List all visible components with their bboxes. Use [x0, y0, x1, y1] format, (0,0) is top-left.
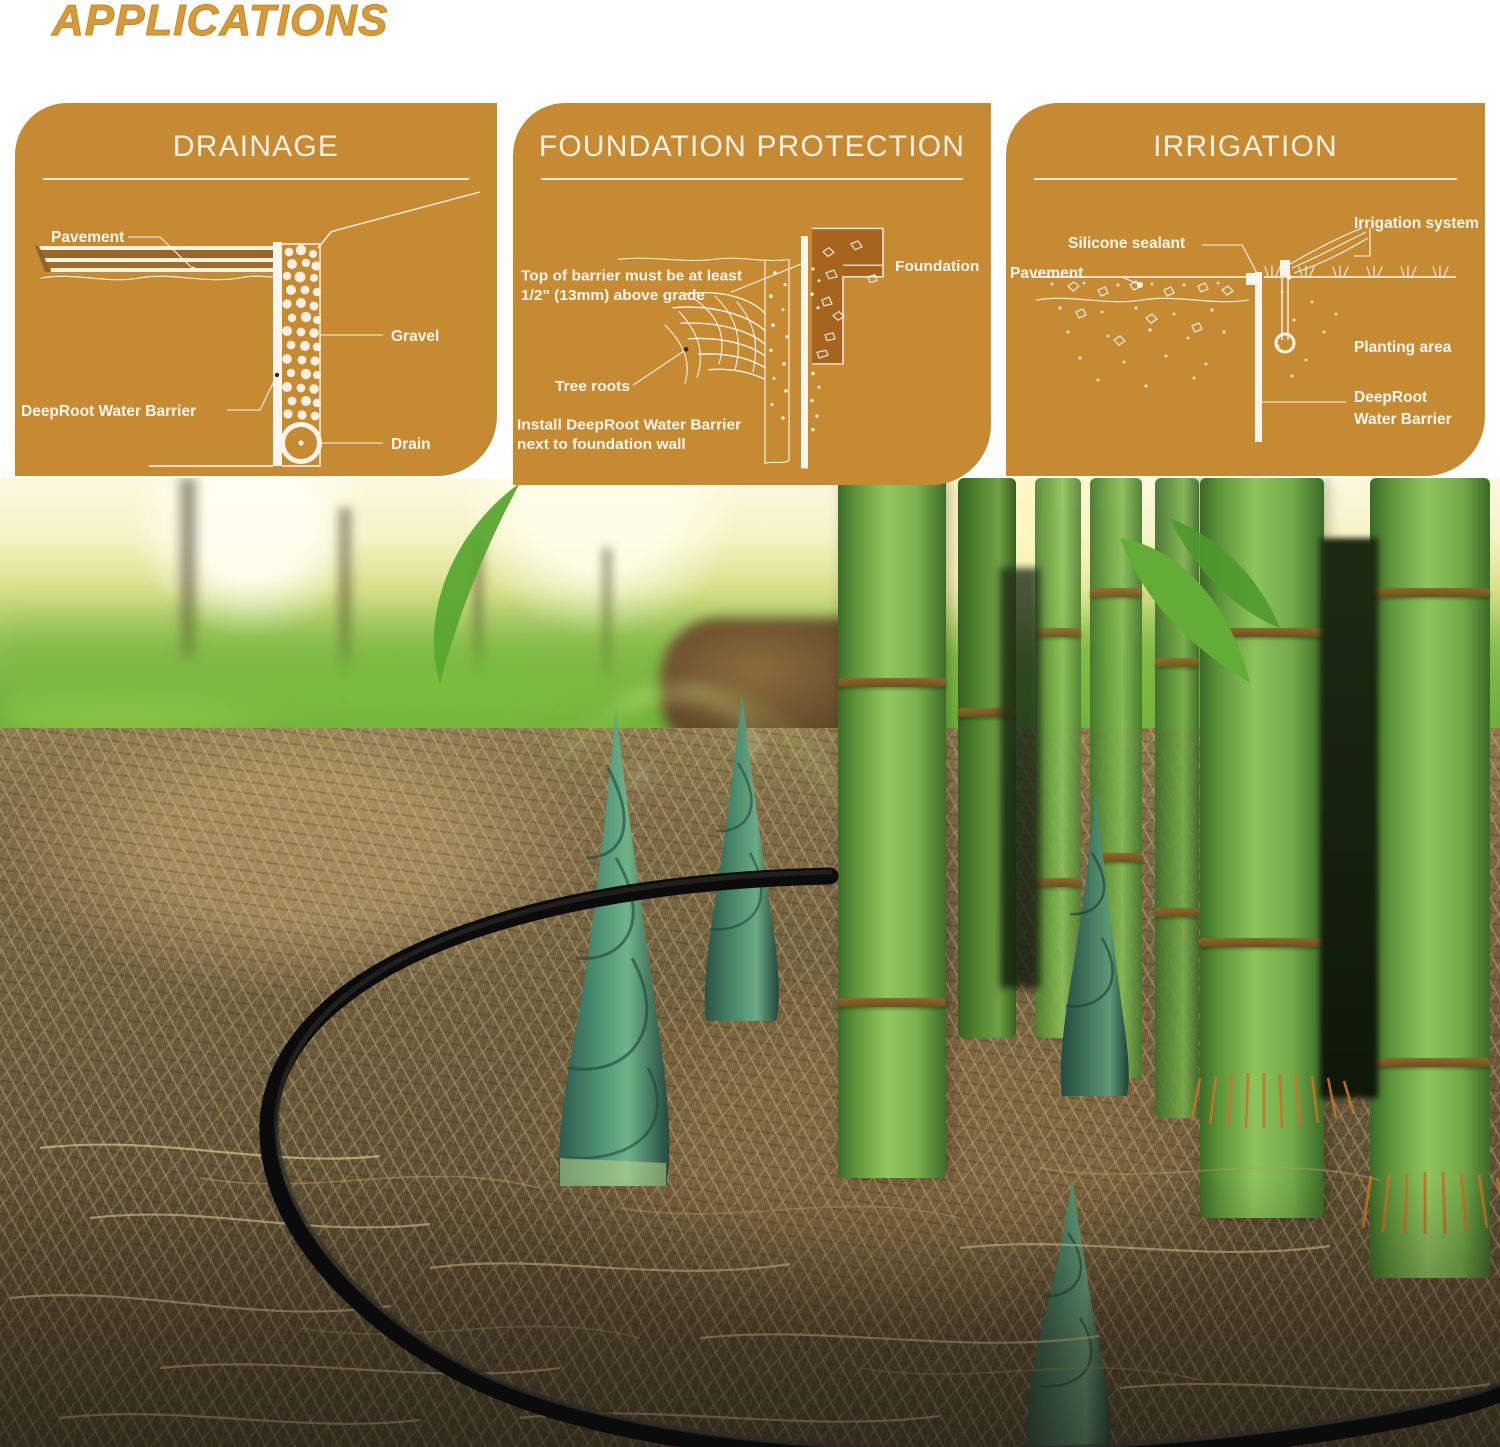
- label-pavement: Pavement: [51, 229, 124, 246]
- panel-drainage-figure: Pavement DeepRoot Water Barrier Gravel D…: [15, 180, 497, 476]
- applications-panel-row: DRAINAGE: [0, 103, 1500, 495]
- label-pavement: Pavement: [1010, 265, 1083, 282]
- label-tree-roots: Tree roots: [555, 378, 630, 395]
- label-gravel: Gravel: [391, 328, 439, 345]
- label-deeproot-water-barrier: DeepRoot Water Barrier: [21, 403, 196, 420]
- drainage-diagram: Pavement DeepRoot Water Barrier Gravel D…: [15, 180, 497, 476]
- panel-foundation-figure: Top of barrier must be at least 1/2" (13…: [513, 180, 991, 480]
- foundation-diagram: Top of barrier must be at least 1/2" (13…: [513, 180, 991, 480]
- label-top-note-line1: Top of barrier must be at least: [521, 268, 742, 285]
- label-foundation: Foundation: [895, 258, 979, 275]
- panel-irrigation: IRRIGATION: [1006, 103, 1485, 476]
- root-barrier-ring: [0, 478, 1500, 1447]
- panel-foundation-header: FOUNDATION PROTECTION: [513, 103, 991, 164]
- label-barrier-line1: DeepRoot: [1354, 389, 1427, 406]
- label-install-line1: Install DeepRoot Water Barrier: [517, 417, 741, 434]
- label-silicone-sealant: Silicone sealant: [1068, 235, 1185, 252]
- label-top-note-line2: 1/2" (13mm) above grade: [521, 287, 705, 304]
- bamboo-photograph: [0, 478, 1500, 1447]
- panel-drainage: DRAINAGE: [15, 103, 497, 476]
- label-planting-area: Planting area: [1354, 339, 1452, 356]
- panel-irrigation-header: IRRIGATION: [1006, 103, 1485, 164]
- irrigation-diagram: Silicone sealant Pavement Irrigation sys…: [1006, 180, 1485, 476]
- panel-irrigation-figure: Silicone sealant Pavement Irrigation sys…: [1006, 180, 1485, 476]
- panel-drainage-header: DRAINAGE: [15, 103, 497, 164]
- page-title: APPLICATIONS: [52, 0, 388, 46]
- label-barrier-line2: Water Barrier: [1354, 411, 1452, 428]
- label-drain: Drain: [391, 436, 431, 453]
- panel-foundation-protection: FOUNDATION PROTECTION: [513, 103, 991, 485]
- label-install-line2: next to foundation wall: [517, 436, 686, 453]
- label-irrigation-system: Irrigation system: [1354, 215, 1479, 232]
